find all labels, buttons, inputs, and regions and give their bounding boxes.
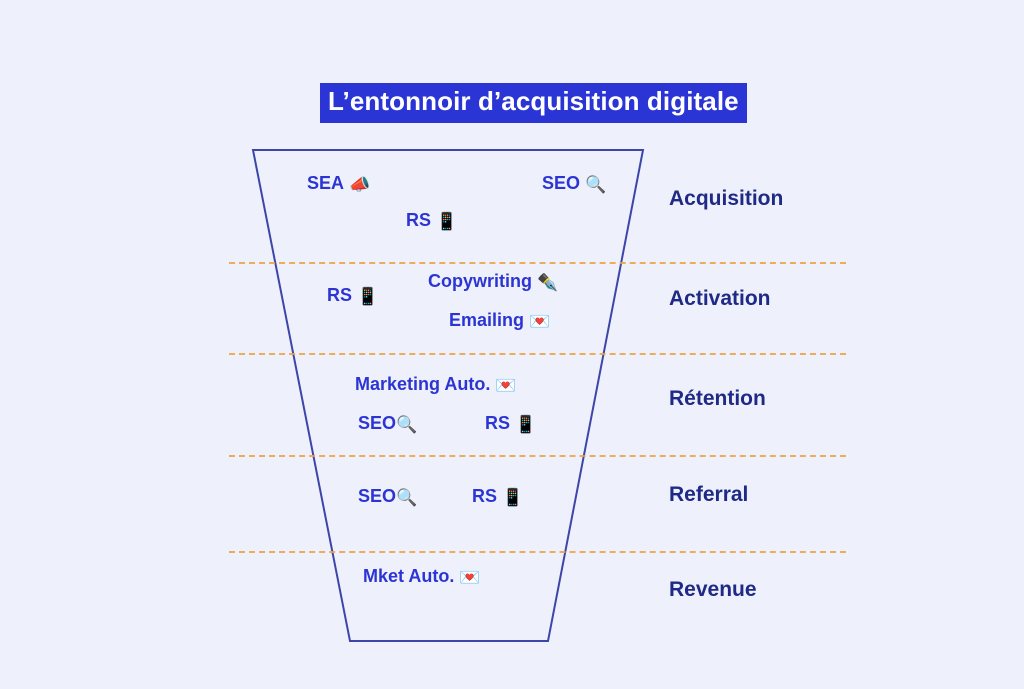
tactic-rs-referral: RS📱: [472, 487, 523, 506]
tactic-label: RS: [472, 486, 497, 506]
love-letter-icon: 💌: [495, 376, 516, 395]
tactic-seo-retention: SEO🔍: [358, 414, 417, 433]
stage-divider-4: [229, 551, 846, 553]
tactic-mket-auto: Mket Auto.💌: [363, 567, 481, 586]
tactic-sea: SEA📣: [307, 174, 370, 193]
magnifying-glass-icon: 🔍: [396, 415, 417, 434]
slide-canvas: L’entonnoir d’acquisition digitale Acqui…: [0, 0, 1024, 689]
magnifying-glass-icon: 🔍: [396, 488, 417, 507]
tactic-seo-acquisition: SEO🔍: [542, 174, 606, 193]
love-letter-icon: 💌: [529, 312, 550, 331]
mobile-phone-icon: 📱: [357, 287, 378, 306]
tactic-emailing: Emailing💌: [449, 311, 550, 330]
tactic-label: Copywriting: [428, 271, 532, 291]
tactic-label: Emailing: [449, 310, 524, 330]
stage-label-referral: Referral: [669, 483, 748, 507]
tactic-label: RS: [327, 285, 352, 305]
tactic-label: Marketing Auto.: [355, 374, 490, 394]
tactic-label: Mket Auto.: [363, 566, 454, 586]
stage-label-acquisition: Acquisition: [669, 187, 783, 211]
stage-divider-1: [229, 262, 846, 264]
magnifying-glass-icon: 🔍: [585, 175, 606, 194]
love-letter-icon: 💌: [459, 568, 480, 587]
tactic-rs-retention: RS📱: [485, 414, 536, 433]
mobile-phone-icon: 📱: [502, 488, 523, 507]
mobile-phone-icon: 📱: [515, 415, 536, 434]
tactic-marketing-auto: Marketing Auto.💌: [355, 375, 517, 394]
stage-label-retention: Rétention: [669, 387, 766, 411]
tactic-label: SEA: [307, 173, 344, 193]
tactic-rs-activation: RS📱: [327, 286, 378, 305]
page-title: L’entonnoir d’acquisition digitale: [320, 83, 747, 123]
stage-divider-2: [229, 353, 846, 355]
tactic-copywriting: Copywriting✒️: [428, 272, 558, 291]
mobile-phone-icon: 📱: [436, 212, 457, 231]
stage-divider-3: [229, 455, 846, 457]
tactic-label: SEO: [542, 173, 580, 193]
stage-label-revenue: Revenue: [669, 578, 757, 602]
tactic-label: SEO: [358, 413, 396, 433]
tactic-seo-referral: SEO🔍: [358, 487, 417, 506]
tactic-label: RS: [406, 210, 431, 230]
tactic-label: RS: [485, 413, 510, 433]
megaphone-icon: 📣: [349, 175, 370, 194]
black-nib-pen-icon: ✒️: [537, 273, 558, 292]
tactic-rs-acquisition: RS📱: [406, 211, 457, 230]
tactic-label: SEO: [358, 486, 396, 506]
stage-label-activation: Activation: [669, 287, 771, 311]
